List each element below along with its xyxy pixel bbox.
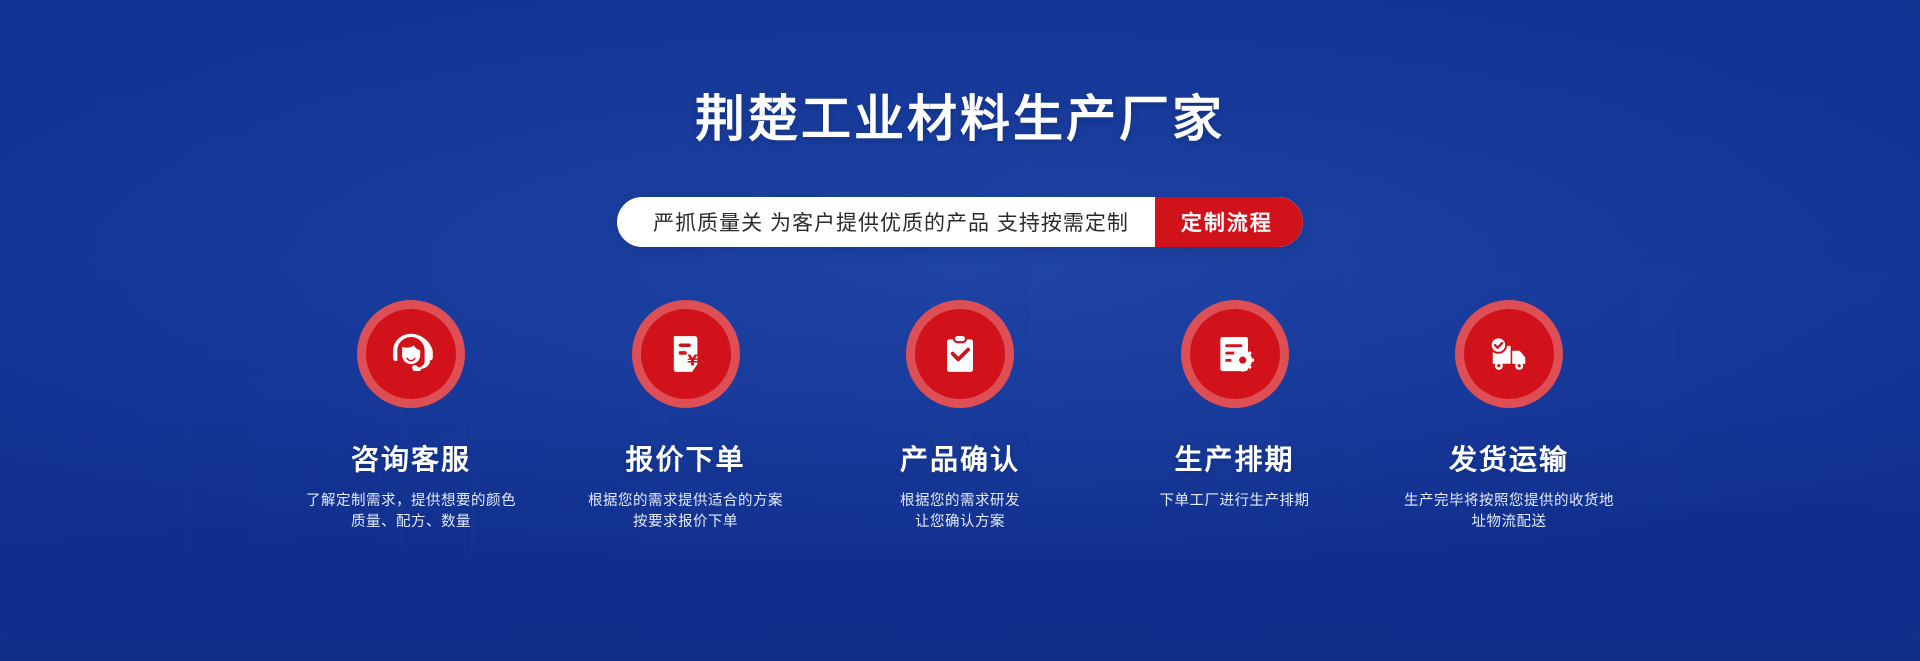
step-title-3: 产品确认 bbox=[900, 438, 1020, 478]
process-step-2: ¥ 报价下单 根据您的需求提供适合的方案按要求报价下单 bbox=[555, 300, 817, 533]
step-desc-1: 了解定制需求，提供想要的颜色质量、配方、数量 bbox=[306, 491, 516, 533]
process-step-4: 生产排期 下单工厂进行生产排期 bbox=[1104, 300, 1366, 533]
custom-process-button[interactable]: 定制流程 bbox=[1155, 197, 1303, 247]
step-desc-2: 根据您的需求提供适合的方案按要求报价下单 bbox=[588, 491, 783, 533]
process-step-3: 产品确认 根据您的需求研发让您确认方案 bbox=[829, 300, 1091, 533]
promo-banner: 荆楚工业材料生产厂家 严抓质量关 为客户提供优质的产品 支持按需定制 定制流程 bbox=[0, 0, 1920, 661]
step-title-4: 生产排期 bbox=[1174, 438, 1294, 478]
tagline-bar: 严抓质量关 为客户提供优质的产品 支持按需定制 定制流程 bbox=[0, 197, 1920, 247]
step-icon-circle-5[interactable] bbox=[1455, 300, 1563, 408]
step-title-2: 报价下单 bbox=[625, 438, 745, 478]
step-icon-circle-1[interactable] bbox=[357, 300, 465, 408]
process-steps: 咨询客服 了解定制需求，提供想要的颜色质量、配方、数量 ¥ 报价下单 bbox=[280, 300, 1640, 533]
tagline-pill: 严抓质量关 为客户提供优质的产品 支持按需定制 定制流程 bbox=[617, 197, 1303, 247]
process-step-5: 发货运输 生产完毕将按照您提供的收货地址物流配送 bbox=[1378, 300, 1640, 533]
tagline-text: 严抓质量关 为客户提供优质的产品 支持按需定制 bbox=[617, 197, 1155, 247]
quote-invoice-yuan-icon: ¥ bbox=[660, 328, 712, 380]
step-desc-4: 下单工厂进行生产排期 bbox=[1160, 491, 1310, 512]
step-icon-circle-4[interactable] bbox=[1181, 300, 1289, 408]
clipboard-check-icon bbox=[934, 328, 986, 380]
step-icon-circle-2[interactable]: ¥ bbox=[632, 300, 740, 408]
banner-content: 荆楚工业材料生产厂家 严抓质量关 为客户提供优质的产品 支持按需定制 定制流程 bbox=[0, 0, 1920, 661]
headset-support-icon bbox=[385, 328, 437, 380]
step-title-1: 咨询客服 bbox=[351, 438, 471, 478]
step-title-5: 发货运输 bbox=[1449, 438, 1569, 478]
process-step-1: 咨询客服 了解定制需求，提供想要的颜色质量、配方、数量 bbox=[280, 300, 542, 533]
page-title: 荆楚工业材料生产厂家 bbox=[0, 92, 1920, 147]
document-gear-icon bbox=[1209, 328, 1261, 380]
delivery-truck-check-icon bbox=[1483, 328, 1535, 380]
svg-text:¥: ¥ bbox=[687, 351, 698, 369]
step-desc-3: 根据您的需求研发让您确认方案 bbox=[900, 491, 1020, 533]
step-icon-circle-3[interactable] bbox=[906, 300, 1014, 408]
step-desc-5: 生产完毕将按照您提供的收货地址物流配送 bbox=[1404, 491, 1614, 533]
